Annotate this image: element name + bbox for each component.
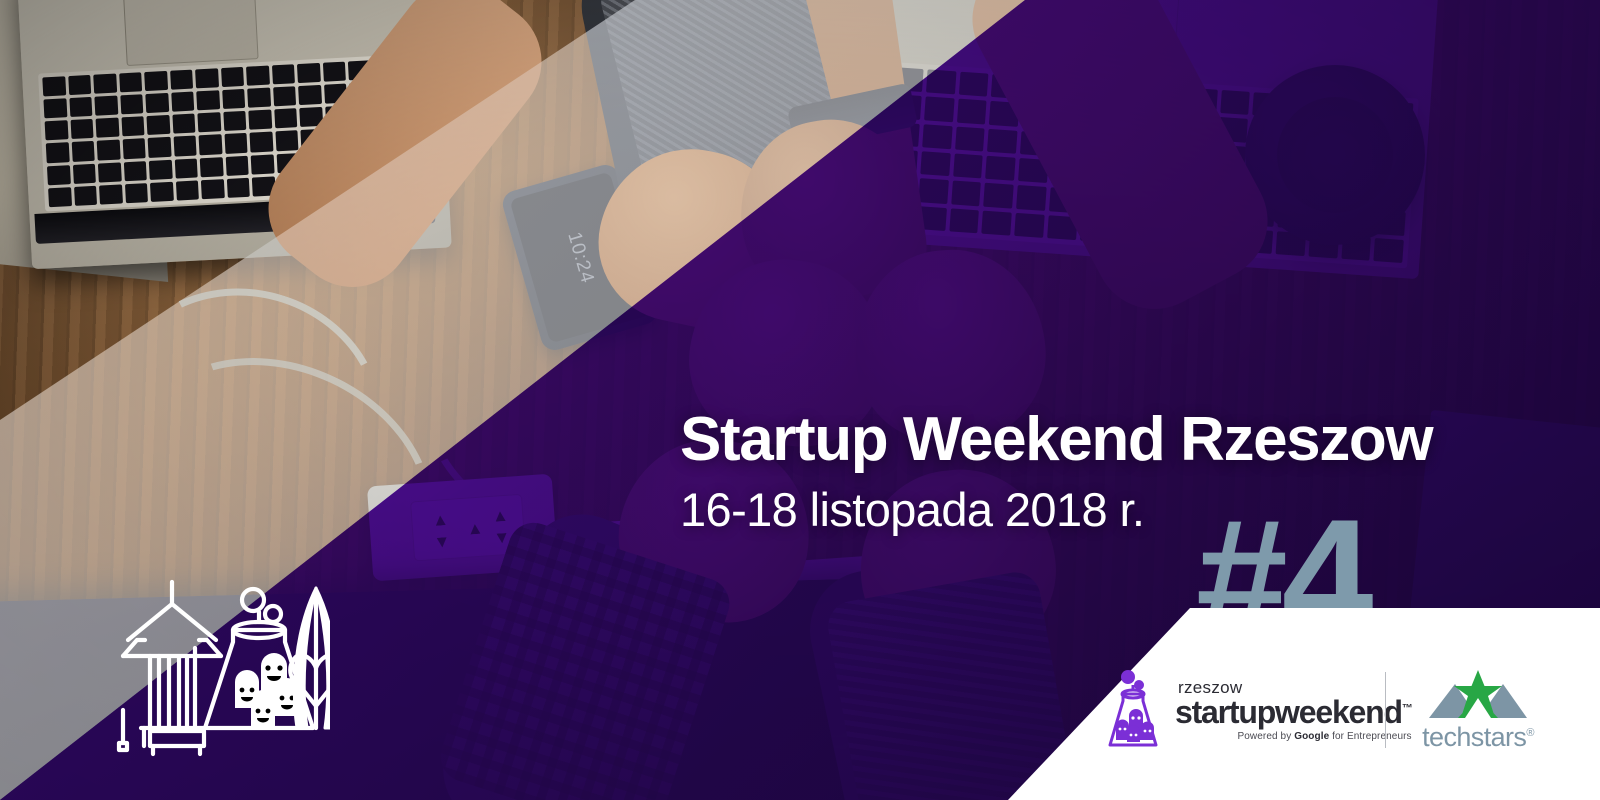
google-wordmark: Google (1294, 731, 1329, 742)
powered-by-line: Powered by Google for Entrepreneurs (1175, 732, 1412, 742)
event-date: 16-18 listopada 2018 r. (680, 482, 1530, 537)
flask-icon (1105, 668, 1161, 752)
rzeszow-landmarks-icon (95, 578, 330, 778)
trademark-mark: ™ (1402, 702, 1412, 714)
powered-suffix: for Entrepreneurs (1329, 731, 1411, 742)
event-title: Startup Weekend Rzeszow (680, 408, 1530, 472)
lockup-brand: startupweekend™ (1175, 696, 1412, 728)
techstars-word-text: techstars (1422, 722, 1526, 752)
headline-block: Startup Weekend Rzeszow 16-18 listopada … (680, 408, 1530, 537)
techstars-logo: techstars® (1418, 668, 1538, 753)
registered-mark: ® (1526, 727, 1534, 739)
lockup-brand-text: startupweekend (1175, 694, 1402, 730)
lockup-divider (1385, 672, 1386, 748)
techstars-wordmark: techstars® (1418, 722, 1538, 753)
techstars-star-mountain-icon (1419, 668, 1537, 720)
startup-weekend-lockup: rzeszow startupweekend™ Powered by Googl… (1105, 668, 1412, 752)
event-banner: 10:24 (0, 0, 1600, 800)
powered-prefix: Powered by (1238, 731, 1295, 742)
startup-weekend-wordmark: rzeszow startupweekend™ Powered by Googl… (1175, 679, 1412, 742)
